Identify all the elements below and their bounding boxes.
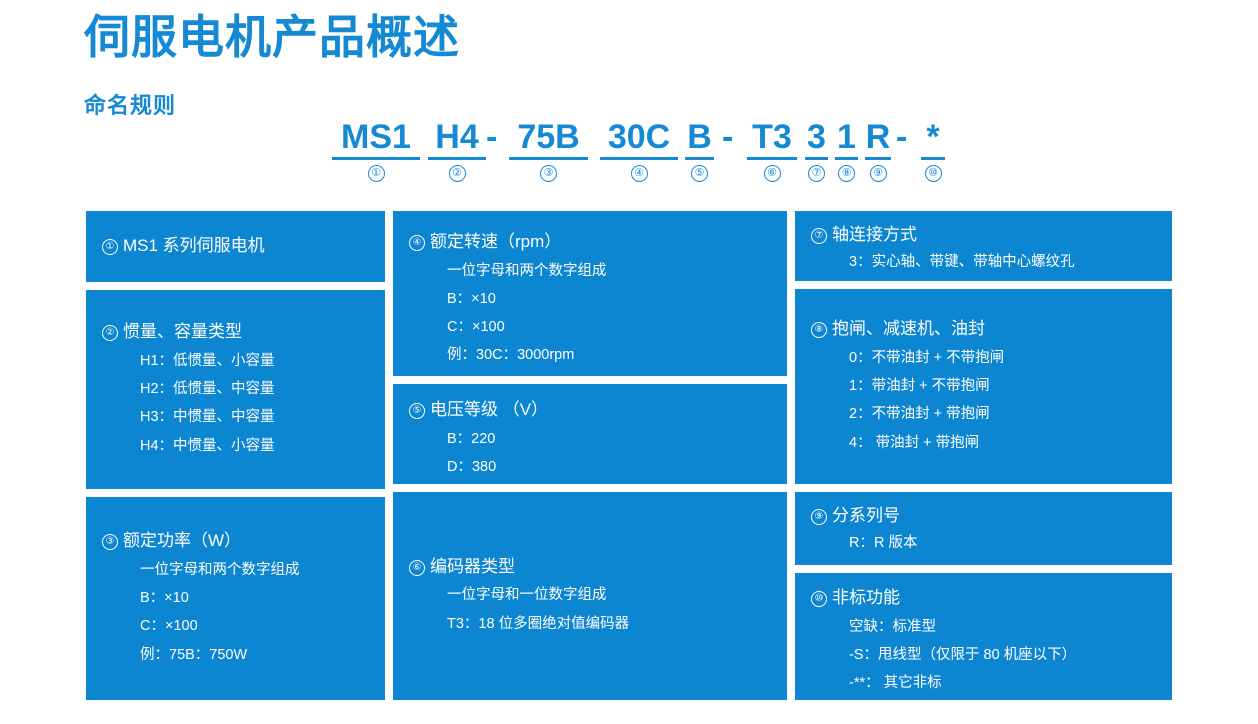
spec-cell-3-line-3: C：×100	[102, 612, 369, 640]
code-segment-4-underline	[600, 157, 678, 160]
code-segment-1-index: ①	[368, 165, 385, 182]
spec-cell-8-line-3: 2：不带油封 + 带抱闸	[811, 400, 1156, 428]
code-segment-10-index: ⑩	[925, 165, 942, 182]
spec-cell-7-title: ⑦轴连接方式	[811, 222, 1156, 248]
spec-cell-8-index: ⑧	[811, 322, 827, 338]
spec-cell-2-line-4: H4：中惯量、小容量	[102, 432, 369, 460]
code-segment-4: 30C ④	[598, 118, 680, 182]
spec-cell-5-title: ⑤电压等级 （V）	[409, 397, 771, 423]
spec-cell-2-line-2: H2：低惯量、中容量	[102, 375, 369, 403]
spec-cell-4-line-4: 例：30C：3000rpm	[409, 341, 771, 369]
code-segment-8-underline	[835, 157, 858, 160]
spec-cell-1-title-text: MS1 系列伺服电机	[123, 236, 265, 255]
spec-cell-7-line-1: 3：实心轴、带键、带轴中心螺纹孔	[811, 250, 1156, 275]
code-segment-9-text: R	[863, 118, 893, 156]
code-segment-2-index: ②	[449, 165, 466, 182]
code-segment-1: MS1 ①	[330, 118, 422, 182]
spec-cell-8: ⑧抱闸、减速机、油封 0：不带油封 + 不带抱闸 1：带油封 + 不带抱闸 2：…	[795, 289, 1172, 484]
spec-cell-9: ⑨分系列号 R：R 版本	[795, 492, 1172, 565]
code-segment-4-index: ④	[631, 165, 648, 182]
code-segment-2: H4 ②	[426, 118, 488, 182]
spec-cell-10-line-1: 空缺：标准型	[811, 613, 1156, 641]
spec-cell-5: ⑤电压等级 （V） B：220 D：380	[393, 384, 787, 484]
spec-cell-6: ⑥编码器类型 一位字母和一位数字组成 T3：18 位多圈绝对值编码器	[393, 492, 787, 700]
code-segment-5-index: ⑤	[691, 165, 708, 182]
spec-cell-3-index: ③	[102, 534, 118, 550]
spec-column-3: ⑦轴连接方式 3：实心轴、带键、带轴中心螺纹孔 ⑧抱闸、减速机、油封 0：不带油…	[795, 211, 1172, 700]
spec-column-2: ④额定转速（rpm） 一位字母和两个数字组成 B：×10 C：×100 例：30…	[393, 211, 787, 700]
code-segment-10-text: *	[918, 118, 948, 156]
spec-cell-3-title: ③额定功率（W）	[102, 528, 369, 554]
spec-cell-6-index: ⑥	[409, 560, 425, 576]
model-code-strip: MS1 ① H4 ② - 75B ③ 30C ④ B ⑤ - T3	[330, 118, 950, 196]
spec-cell-2-line-1: H1：低惯量、小容量	[102, 347, 369, 375]
spec-cell-1: ①MS1 系列伺服电机	[86, 211, 385, 282]
spec-cell-8-line-2: 1：带油封 + 不带抱闸	[811, 372, 1156, 400]
spec-cell-2-index: ②	[102, 325, 118, 341]
code-segment-7-underline	[805, 157, 828, 160]
spec-cell-4-title-text: 额定转速（rpm）	[430, 232, 561, 251]
spec-column-1: ①MS1 系列伺服电机 ②惯量、容量类型 H1：低惯量、小容量 H2：低惯量、中…	[86, 211, 385, 700]
spec-cell-10: ⑩非标功能 空缺：标准型 -S：甩线型（仅限于 80 机座以下） -**： 其它…	[795, 573, 1172, 700]
code-segment-3: 75B ③	[507, 118, 590, 182]
spec-cell-5-line-2: D：380	[409, 453, 771, 481]
spec-cell-2: ②惯量、容量类型 H1：低惯量、小容量 H2：低惯量、中容量 H3：中惯量、中容…	[86, 290, 385, 489]
spec-cell-9-title-text: 分系列号	[832, 506, 900, 525]
spec-cell-6-title-text: 编码器类型	[430, 557, 515, 576]
spec-cell-6-title: ⑥编码器类型	[409, 554, 771, 580]
spec-cell-4: ④额定转速（rpm） 一位字母和两个数字组成 B：×10 C：×100 例：30…	[393, 211, 787, 376]
code-segment-2-underline	[428, 157, 486, 160]
spec-cell-2-title: ②惯量、容量类型	[102, 319, 369, 345]
code-segment-9-index: ⑨	[870, 165, 887, 182]
code-separator-2: -	[722, 118, 733, 156]
code-segment-8-index: ⑧	[838, 165, 855, 182]
code-segment-6-index: ⑥	[764, 165, 781, 182]
spec-cell-10-title: ⑩非标功能	[811, 585, 1156, 611]
code-segment-6: T3 ⑥	[745, 118, 799, 182]
code-segment-8: 1 ⑧	[833, 118, 860, 182]
code-segment-3-index: ③	[540, 165, 557, 182]
spec-cell-3-line-1: 一位字母和两个数字组成	[102, 556, 369, 584]
spec-cell-10-line-2: -S：甩线型（仅限于 80 机座以下）	[811, 641, 1156, 669]
spec-cell-10-title-text: 非标功能	[832, 588, 900, 607]
spec-cell-2-line-3: H3：中惯量、中容量	[102, 403, 369, 431]
spec-cell-4-line-2: B：×10	[409, 285, 771, 313]
code-segment-2-text: H4	[426, 118, 488, 156]
spec-cell-8-title-text: 抱闸、减速机、油封	[832, 319, 985, 338]
naming-rule-page: 伺服电机产品概述 命名规则 MS1 ① H4 ② - 75B ③ 30C ④ B…	[0, 0, 1258, 724]
spec-cell-9-line-1: R：R 版本	[811, 531, 1156, 556]
spec-cell-3: ③额定功率（W） 一位字母和两个数字组成 B：×10 C：×100 例：75B：…	[86, 497, 385, 700]
spec-cell-7: ⑦轴连接方式 3：实心轴、带键、带轴中心螺纹孔	[795, 211, 1172, 281]
spec-cell-9-index: ⑨	[811, 509, 827, 525]
code-segment-6-text: T3	[745, 118, 799, 156]
code-segment-5-text: B	[683, 118, 716, 156]
spec-cell-4-index: ④	[409, 235, 425, 251]
spec-cell-5-title-text: 电压等级 （V）	[430, 400, 548, 419]
spec-cell-4-line-3: C：×100	[409, 313, 771, 341]
spec-cell-8-line-1: 0：不带油封 + 不带抱闸	[811, 344, 1156, 372]
spec-cell-5-index: ⑤	[409, 403, 425, 419]
spec-cell-10-line-3: -**： 其它非标	[811, 669, 1156, 697]
spec-cell-5-line-1: B：220	[409, 425, 771, 453]
code-segment-7: 3 ⑦	[803, 118, 830, 182]
code-segment-1-text: MS1	[330, 118, 422, 156]
code-segment-8-text: 1	[833, 118, 860, 156]
code-segment-7-index: ⑦	[808, 165, 825, 182]
spec-cell-3-line-4: 例：75B：750W	[102, 641, 369, 669]
spec-cell-8-line-4: 4： 带油封 + 带抱闸	[811, 429, 1156, 457]
code-segment-10-underline	[921, 157, 945, 160]
spec-cell-9-title: ⑨分系列号	[811, 503, 1156, 529]
code-segment-5-underline	[685, 157, 714, 160]
spec-cell-2-title-text: 惯量、容量类型	[123, 322, 242, 341]
spec-cell-10-index: ⑩	[811, 591, 827, 607]
spec-cell-1-title: ①MS1 系列伺服电机	[102, 233, 369, 259]
code-separator-1: -	[486, 118, 497, 156]
spec-cell-6-line-2: T3：18 位多圈绝对值编码器	[409, 610, 771, 638]
spec-cell-3-title-text: 额定功率（W）	[123, 531, 241, 550]
spec-cell-7-index: ⑦	[811, 228, 827, 244]
spec-cell-4-title: ④额定转速（rpm）	[409, 229, 771, 255]
code-segment-1-underline	[332, 157, 420, 160]
spec-cell-6-line-1: 一位字母和一位数字组成	[409, 581, 771, 609]
code-segment-6-underline	[747, 157, 797, 160]
spec-cell-8-title: ⑧抱闸、减速机、油封	[811, 316, 1156, 342]
code-segment-3-text: 75B	[507, 118, 590, 156]
code-segment-4-text: 30C	[598, 118, 680, 156]
code-separator-3: -	[896, 118, 907, 156]
section-subtitle: 命名规则	[84, 88, 176, 120]
page-title: 伺服电机产品概述	[84, 11, 460, 64]
code-segment-7-text: 3	[803, 118, 830, 156]
code-segment-9-underline	[865, 157, 891, 160]
spec-cell-4-line-1: 一位字母和两个数字组成	[409, 257, 771, 285]
spec-cell-1-index: ①	[102, 239, 118, 255]
code-segment-5: B ⑤	[683, 118, 716, 182]
code-segment-9: R ⑨	[863, 118, 893, 182]
spec-cell-7-title-text: 轴连接方式	[832, 225, 917, 244]
spec-cell-3-line-2: B：×10	[102, 584, 369, 612]
code-segment-3-underline	[509, 157, 588, 160]
spec-table: ①MS1 系列伺服电机 ②惯量、容量类型 H1：低惯量、小容量 H2：低惯量、中…	[86, 211, 1172, 700]
code-segment-10: * ⑩	[918, 118, 948, 182]
